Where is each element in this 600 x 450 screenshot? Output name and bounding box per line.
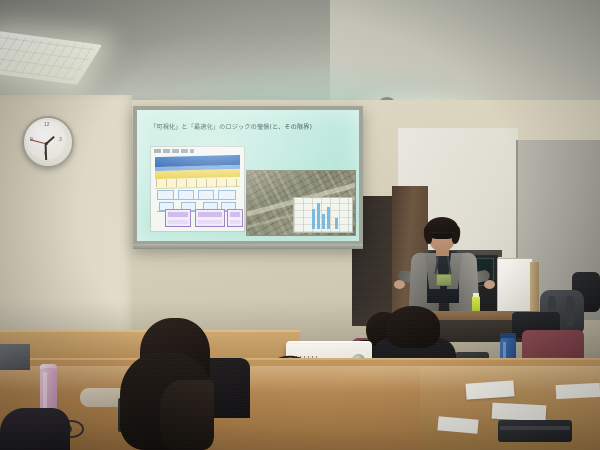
screen-bottom-lip (133, 244, 363, 249)
attendee-shoulder (0, 408, 70, 450)
laptop (0, 344, 30, 370)
presenter-name-badge (436, 274, 452, 286)
presenter-glasses-icon (429, 232, 455, 238)
bottle-green-cap (473, 293, 479, 297)
paper-sheet (556, 383, 600, 399)
case-black-strap (500, 426, 570, 430)
presenter-left-hand (394, 280, 405, 289)
clock-centre-pin (45, 142, 48, 145)
case-black (498, 420, 572, 442)
attendee-hair (386, 306, 440, 348)
presenter-right-hand (484, 280, 495, 289)
backpack-strap (566, 296, 574, 326)
seminar-room-photo: 12 3 6 9 「可視化」と「最適化」のロジックの憧憬(と、その限界) (0, 0, 600, 450)
attendee-hair-strand (160, 380, 214, 450)
screen-glare (137, 110, 359, 241)
clock-numeral-3: 3 (59, 137, 62, 143)
clock-numeral-12: 12 (44, 122, 50, 128)
paper-sheet (466, 380, 515, 399)
tumbler-pink-highlight (43, 372, 47, 412)
paper-sheet (492, 403, 547, 422)
